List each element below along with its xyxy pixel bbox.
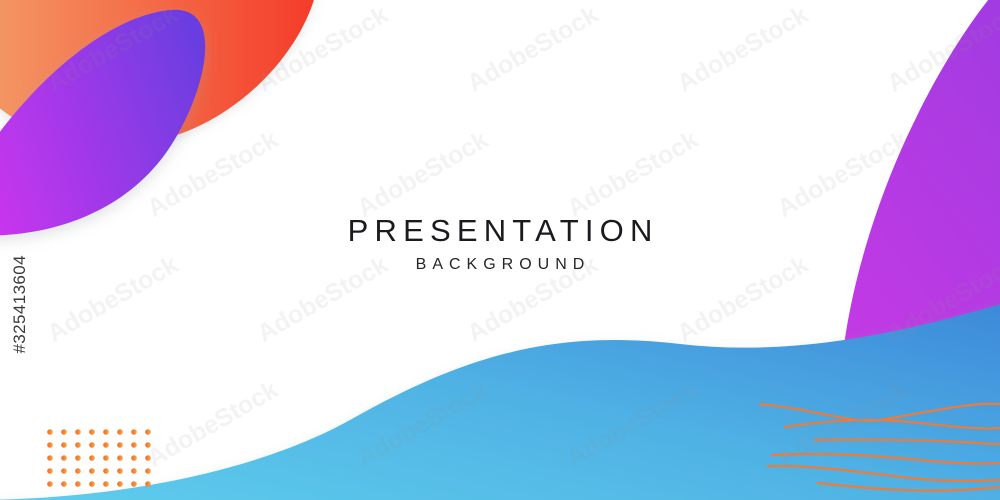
grid-dot [89,442,95,448]
grid-dot [117,468,123,474]
grid-dot [103,442,109,448]
grid-dot [117,481,123,487]
grid-dot [61,429,67,435]
grid-dot [47,468,53,474]
background-artwork [0,0,1000,500]
grid-dot [117,429,123,435]
grid-dot [131,429,137,435]
grid-dot [61,468,67,474]
grid-dot [131,481,137,487]
grid-dot [89,429,95,435]
grid-dot [145,429,151,435]
grid-dot [47,455,53,461]
grid-dot [61,455,67,461]
grid-dot [145,455,151,461]
grid-dot [75,481,81,487]
grid-dot [145,481,151,487]
grid-dot [47,481,53,487]
grid-dot [61,442,67,448]
grid-dot [75,455,81,461]
grid-dot [75,442,81,448]
grid-dot [117,455,123,461]
presentation-background-canvas: AdobeStockAdobeStockAdobeStockAdobeStock… [0,0,1000,500]
orange-dot-grid [47,429,151,487]
grid-dot [47,442,53,448]
grid-dot [89,481,95,487]
grid-dot [131,442,137,448]
grid-dot [89,455,95,461]
grid-dot [131,455,137,461]
grid-dot [131,468,137,474]
grid-dot [75,429,81,435]
grid-dot [103,455,109,461]
grid-dot [103,429,109,435]
grid-dot [117,442,123,448]
grid-dot [145,442,151,448]
grid-dot [47,429,53,435]
grid-dot [103,468,109,474]
grid-dot [89,468,95,474]
grid-dot [75,468,81,474]
grid-dot [145,468,151,474]
grid-dot [103,481,109,487]
grid-dot [61,481,67,487]
